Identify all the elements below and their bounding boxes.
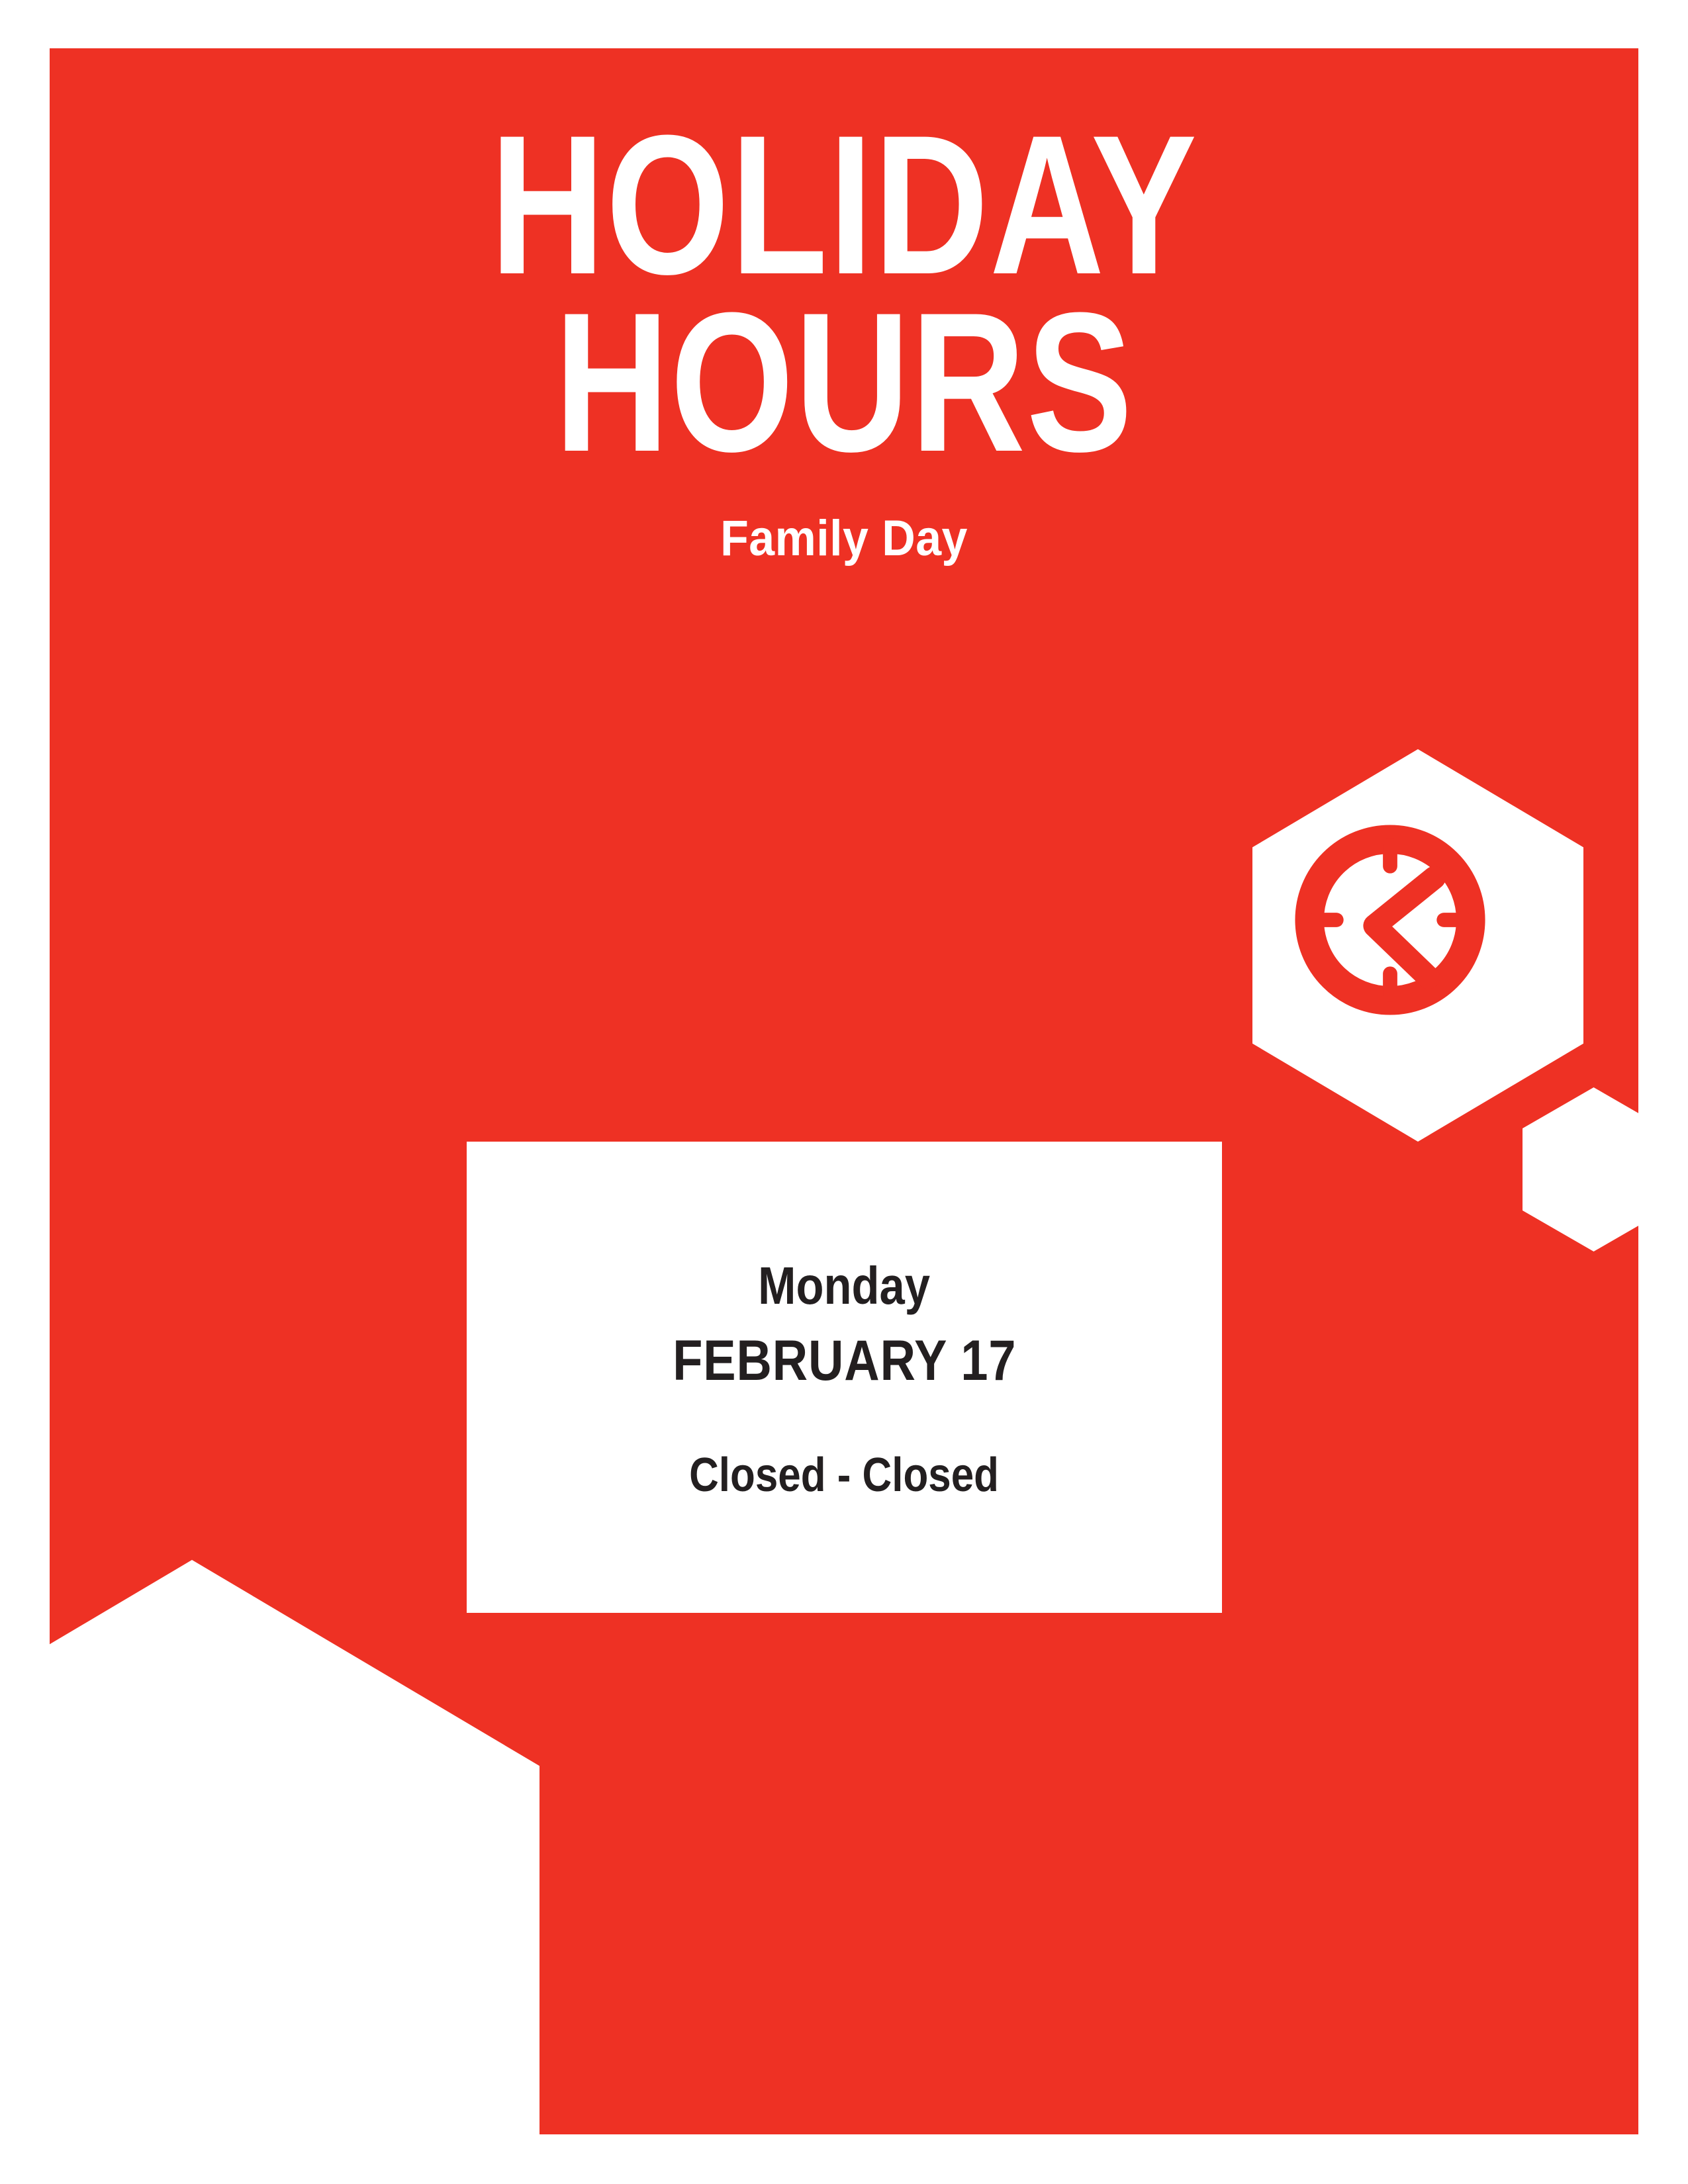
hours-info-card: Monday FEBRUARY 17 Closed - Closed	[467, 1142, 1222, 1613]
holiday-hours-poster: HOLIDAY HOURS Family Day Monday FEBRUARY…	[0, 0, 1688, 2184]
clock-icon	[1294, 824, 1486, 1016]
card-hours: Closed - Closed	[690, 1451, 1000, 1499]
card-date: FEBRUARY 17	[673, 1332, 1016, 1389]
card-weekday: Monday	[759, 1259, 931, 1312]
